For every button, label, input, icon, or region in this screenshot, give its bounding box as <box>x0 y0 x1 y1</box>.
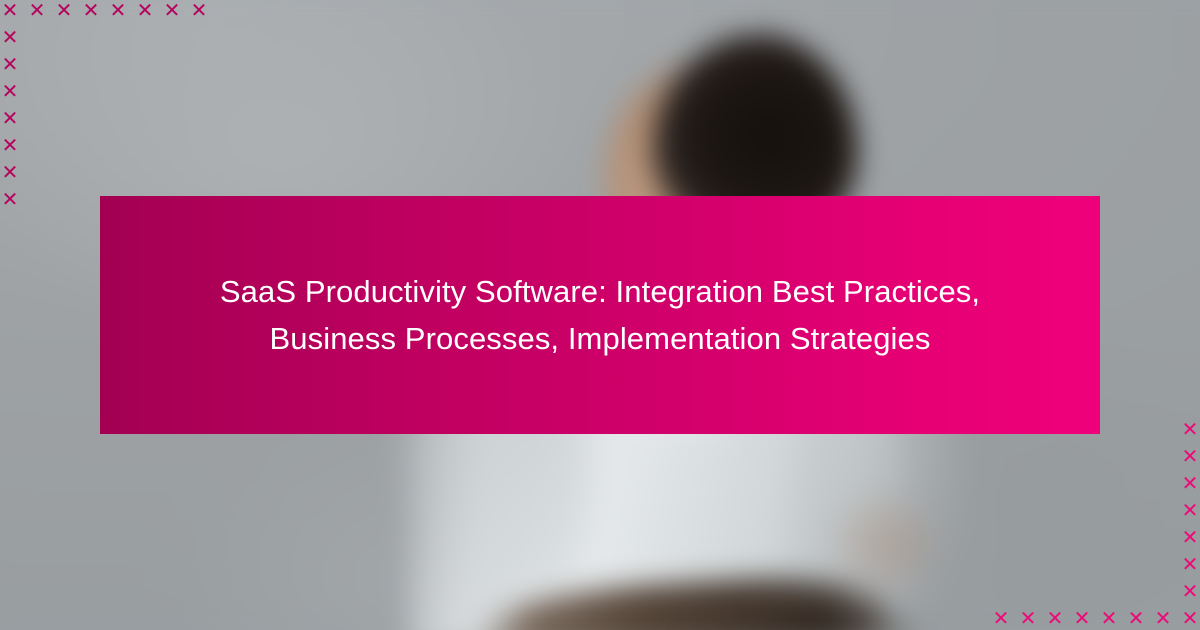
title-banner: SaaS Productivity Software: Integration … <box>100 196 1100 434</box>
social-share-card: ✕✕✕✕✕✕✕✕✕✕✕✕✕✕✕ ✕✕✕✕✕✕✕✕✕✕✕✕✕✕✕ SaaS Pro… <box>0 0 1200 630</box>
page-title: SaaS Productivity Software: Integration … <box>146 268 1054 362</box>
person-hand <box>823 485 950 602</box>
